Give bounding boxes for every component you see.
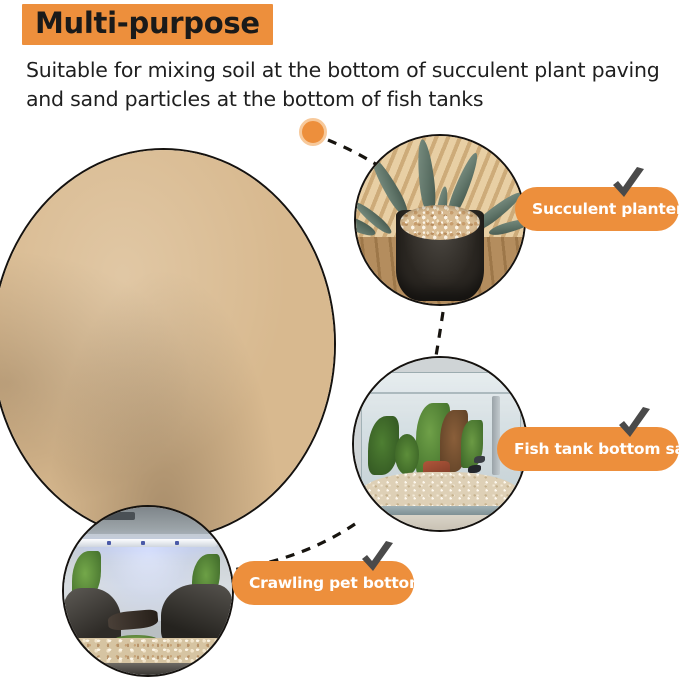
product-infographic: Multi-purpose Suitable for mixing soil a…	[0, 0, 679, 674]
label-fish-tank-bottom-sand-text: Fish tank bottom sand	[514, 440, 679, 458]
fish	[474, 456, 484, 463]
succulent-planter-photo	[354, 134, 526, 306]
label-crawling-pet-bottom-text: Crawling pet bottom	[249, 574, 425, 592]
crawling-pet-terrarium-photo	[62, 505, 234, 677]
terrarium-lid-vent	[91, 512, 135, 520]
subtitle-text: Suitable for mixing soil at the bottom o…	[26, 56, 666, 114]
check-icon	[357, 540, 397, 580]
gravel-closeup-photo	[0, 148, 336, 540]
led-light-bar	[76, 539, 217, 547]
aquarium-filter	[492, 396, 501, 475]
check-icon	[614, 406, 654, 446]
aquarium-water-line	[361, 392, 519, 394]
aquarium-sand-substrate	[359, 472, 521, 510]
succulent-scene	[356, 136, 524, 304]
table-surface	[354, 515, 526, 530]
label-succulent-planters: Succulent planters	[515, 187, 679, 231]
dashed-line-succulent-to-fishtank	[436, 312, 443, 356]
pot-gravel-topdressing	[400, 205, 481, 240]
aquarium-base-trim	[354, 506, 526, 515]
check-icon	[608, 166, 648, 206]
terrarium-hood	[64, 507, 232, 534]
gravel-texture	[0, 150, 334, 538]
label-succulent-planters-text: Succulent planters	[532, 200, 679, 218]
terrarium-base-trim	[64, 663, 232, 675]
terrarium-scene	[64, 507, 232, 675]
title-badge: Multi-purpose	[22, 4, 273, 45]
page-title: Multi-purpose	[35, 7, 260, 40]
orange-dot-marker	[299, 118, 327, 146]
